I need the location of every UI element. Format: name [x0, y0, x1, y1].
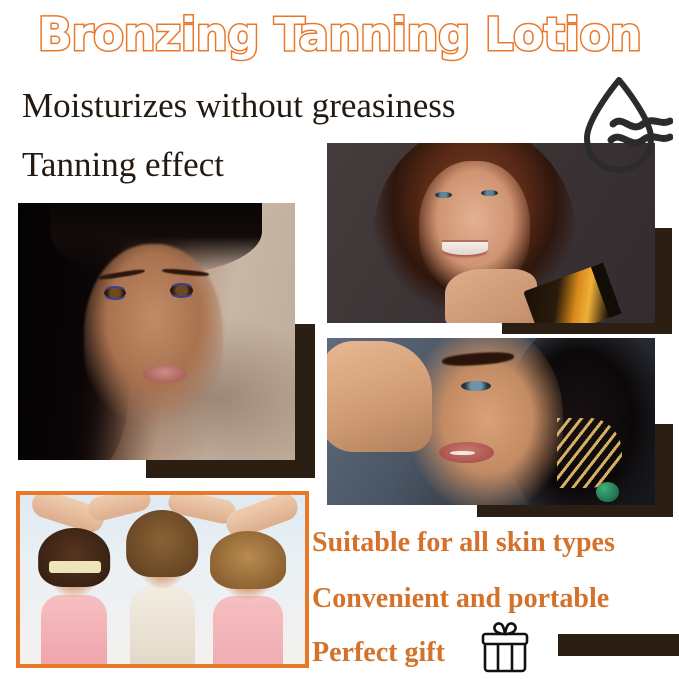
gift-box-icon	[477, 620, 533, 674]
photo-glowing-skin-closeup	[327, 338, 655, 505]
feature-convenient-and-portable: Convenient and portable	[312, 583, 609, 615]
product-infographic: Bronzing Tanning Lotion Moisturizes with…	[0, 0, 679, 679]
feature-perfect-gift: Perfect gift	[312, 637, 445, 669]
water-drop-waves-icon	[573, 74, 673, 178]
feature-suitable-for-all-skin-types: Suitable for all skin types	[312, 527, 615, 559]
headline-moisturizes: Moisturizes without greasiness	[22, 86, 456, 126]
photo-tanned-model-portrait	[18, 203, 295, 460]
photo-beach-friends	[16, 491, 309, 668]
headline-tanning-effect: Tanning effect	[22, 145, 224, 185]
page-title: Bronzing Tanning Lotion	[0, 8, 679, 62]
decorative-bar	[558, 634, 679, 656]
